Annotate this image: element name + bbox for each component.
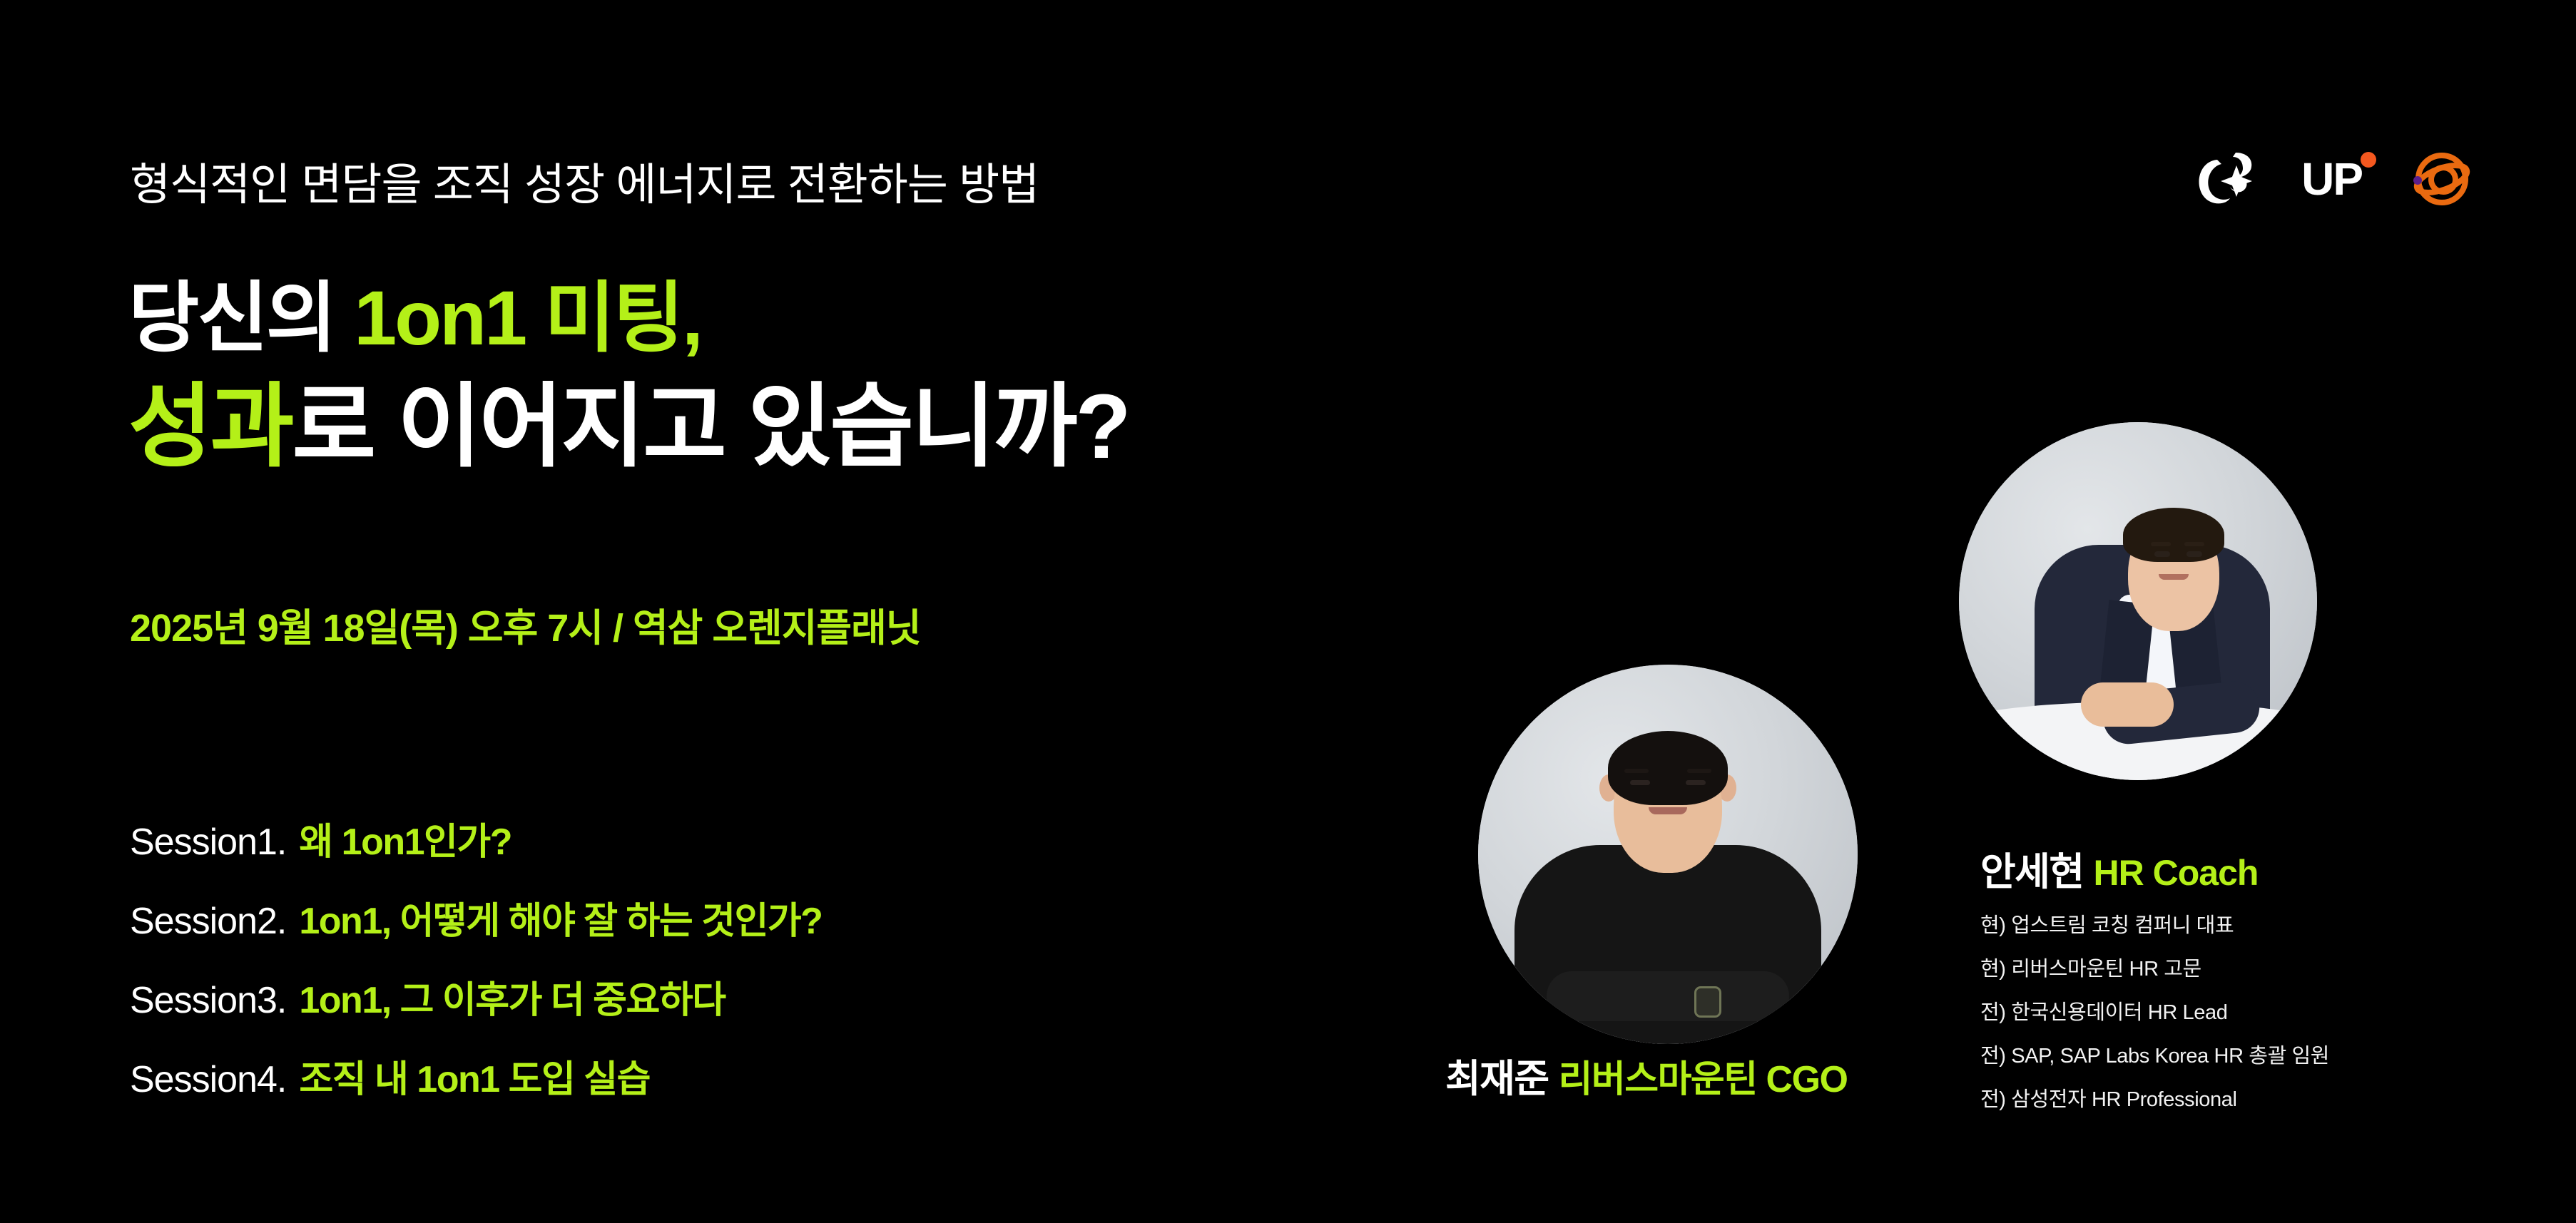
figure-eye-left — [1630, 780, 1650, 785]
headline-line-1: 당신의 1on1 미팅, — [128, 272, 1129, 363]
speaker-role: HR Coach — [2094, 853, 2259, 893]
figure-arms — [1547, 971, 1789, 1021]
session-list: Session1. 왜 1on1인가? Session2. 1on1, 어떻게 … — [130, 812, 822, 1102]
headline-line-2-plain: 로 이어지고 있습니까? — [292, 376, 1129, 478]
session-title: 왜 1on1인가? — [299, 812, 511, 865]
headline-line-2-accent: 성과 — [128, 376, 292, 478]
speaker-caption-ahn-sehyun: 안세현HR Coach — [1980, 840, 2258, 896]
figure-mouth — [1649, 807, 1687, 814]
figure-hands — [2081, 682, 2174, 727]
speaker-choi-jaejun — [1478, 665, 1858, 1044]
portrait-figure — [1959, 422, 2317, 780]
swoosh-star-icon — [2196, 151, 2257, 207]
session-item: Session4. 조직 내 1on1 도입 실습 — [130, 1049, 822, 1102]
figure-eye-right — [1686, 780, 1706, 785]
figure-brow-right — [1687, 769, 1711, 773]
credential-item: 현) 업스트림 코칭 컴퍼니 대표 — [1980, 909, 2329, 938]
headline-line-2: 성과로 이어지고 있습니까? — [128, 373, 1129, 481]
up-logo: UP — [2301, 156, 2366, 202]
speaker-caption-choi-jaejun: 최재준리버스마운틴 CGO — [1445, 1047, 1847, 1103]
speaker-ahn-sehyun — [1959, 422, 2317, 780]
speaker-credentials-list: 현) 업스트림 코칭 컴퍼니 대표 현) 리버스마운틴 HR 고문 전) 한국신… — [1980, 909, 2329, 1112]
speaker-name: 최재준 — [1445, 1058, 1549, 1100]
credential-item: 전) 삼성전자 HR Professional — [1980, 1083, 2329, 1112]
session-title: 1on1, 그 이후가 더 중요하다 — [299, 970, 725, 1023]
figure-brow-left — [2151, 542, 2171, 546]
session-label: Session4. — [130, 1058, 286, 1101]
speaker-name: 안세현 — [1980, 851, 2084, 894]
credential-item: 전) SAP, SAP Labs Korea HR 총괄 임원 — [1980, 1039, 2329, 1069]
figure-hair — [1608, 731, 1728, 805]
session-label: Session3. — [130, 979, 286, 1022]
session-item: Session1. 왜 1on1인가? — [130, 812, 822, 865]
speaker-photo-choi-jaejun — [1478, 665, 1858, 1044]
session-item: Session2. 1on1, 어떻게 해야 잘 하는 것인가? — [130, 891, 822, 944]
session-title: 조직 내 1on1 도입 실습 — [299, 1049, 650, 1102]
figure-brow-left — [1624, 769, 1649, 773]
figure-eye-left — [2154, 551, 2170, 557]
headline-line-1-plain: 당신의 — [128, 275, 354, 361]
figure-watch — [1694, 986, 1721, 1018]
credential-item: 전) 한국신용데이터 HR Lead — [1980, 996, 2329, 1025]
event-promo-banner: 형식적인 면담을 조직 성장 에너지로 전환하는 방법 UP 당신의 — [0, 0, 2576, 1223]
up-logo-label: UP — [2301, 156, 2362, 202]
figure-hair — [2123, 508, 2224, 562]
speaker-photo-ahn-sehyun — [1959, 422, 2317, 780]
speaker-role: 리버스마운틴 CGO — [1559, 1059, 1848, 1100]
figure-brow-right — [2184, 542, 2204, 546]
orange-planet-icon — [2410, 149, 2470, 209]
session-title: 1on1, 어떻게 해야 잘 하는 것인가? — [299, 891, 822, 944]
event-datetime-venue: 2025년 9월 18일(목) 오후 7시 / 역삼 오렌지플래닛 — [130, 596, 920, 653]
figure-eye-right — [2186, 551, 2202, 557]
session-label: Session2. — [130, 900, 286, 943]
portrait-figure — [1478, 665, 1858, 1044]
headline: 당신의 1on1 미팅, 성과로 이어지고 있습니까? — [128, 272, 1129, 481]
session-label: Session1. — [130, 821, 286, 864]
headline-line-1-accent: 1on1 미팅, — [354, 275, 701, 361]
credential-item: 현) 리버스마운틴 HR 고문 — [1980, 952, 2329, 982]
logo-row: UP — [2196, 140, 2470, 218]
up-logo-dot-icon — [2361, 152, 2376, 168]
eyebrow-tagline: 형식적인 면담을 조직 성장 에너지로 전환하는 방법 — [130, 148, 1039, 213]
session-item: Session3. 1on1, 그 이후가 더 중요하다 — [130, 970, 822, 1023]
figure-mouth — [2159, 574, 2189, 580]
